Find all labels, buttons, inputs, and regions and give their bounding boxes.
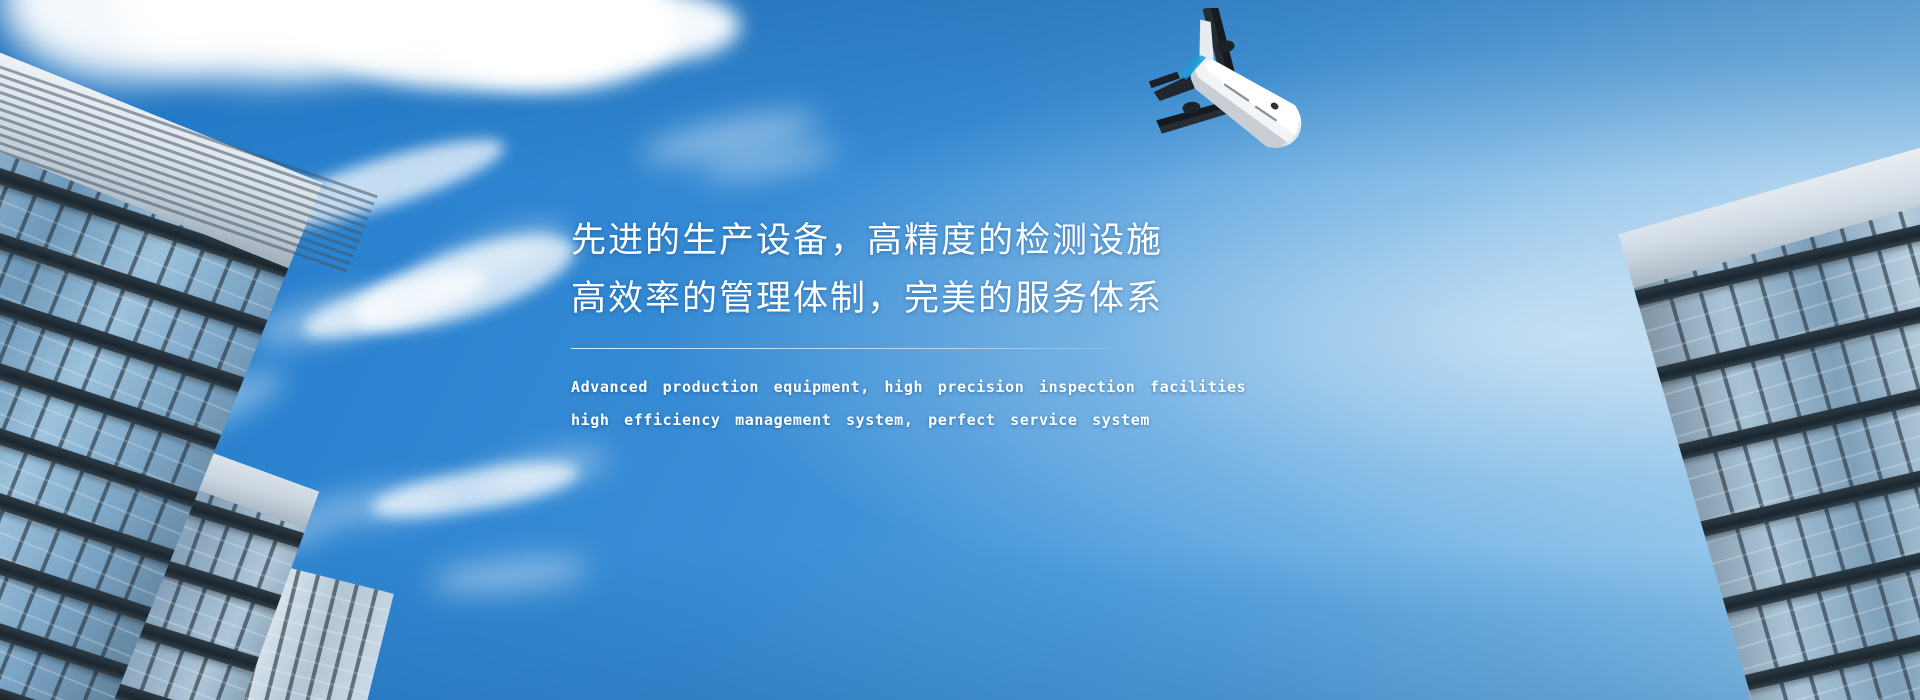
headline-line-2: 高效率的管理体制，完美的服务体系 — [571, 270, 1311, 328]
divider — [571, 348, 1116, 349]
subtitle-line-2: high efficiency management system, perfe… — [571, 404, 1311, 437]
building-mullion — [1898, 211, 1920, 700]
airplane-icon — [1140, 8, 1330, 183]
hero-banner: 先进的生产设备，高精度的检测设施 高效率的管理体制，完美的服务体系 Advanc… — [0, 0, 1920, 700]
headline-line-1: 先进的生产设备，高精度的检测设施 — [571, 212, 1311, 270]
cloud-icon — [505, 8, 625, 70]
banner-copy: 先进的生产设备，高精度的检测设施 高效率的管理体制，完美的服务体系 Advanc… — [571, 212, 1311, 437]
subtitle-line-1: Advanced production equipment, high prec… — [571, 371, 1311, 404]
